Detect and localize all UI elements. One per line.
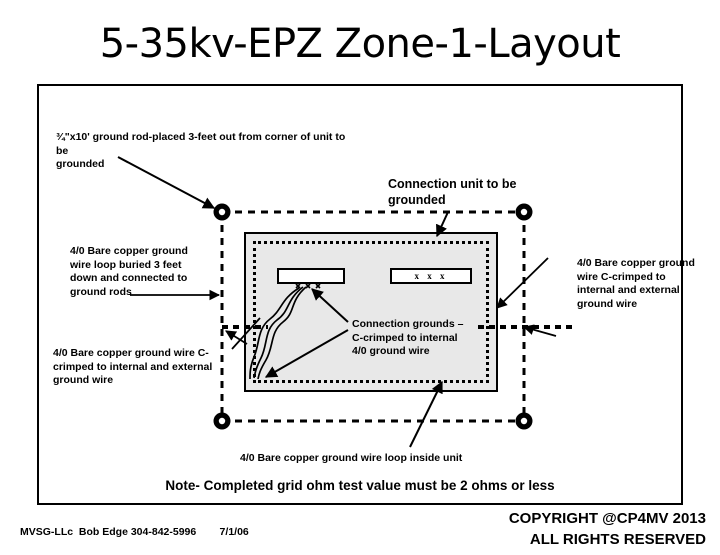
- copyright-line: COPYRIGHT @CP4MV 2013: [509, 508, 706, 529]
- external-ground-loop: [222, 212, 524, 421]
- ground-rod-markers: [214, 204, 533, 430]
- connection-ground-conductors: [250, 287, 306, 379]
- annotation-loop-inside-unit: 4/0 Bare copper ground wire loop inside …: [240, 452, 520, 466]
- slide-canvas: 5-35kv-EPZ Zone-1-Layout x x x: [0, 0, 720, 555]
- leader-connection-unit: [437, 212, 448, 236]
- leader-connection-grounds: [266, 289, 348, 377]
- annotation-loop-buried: 4/0 Bare copper ground wire loop buried …: [70, 245, 220, 299]
- test-value-note: Note- Completed grid ohm test value must…: [0, 478, 720, 493]
- annotation-connection-grounds: Connection grounds – C-crimped to intern…: [352, 318, 492, 359]
- annotation-crimped-left: 4/0 Bare copper ground wire C- crimped t…: [53, 347, 218, 388]
- leader-crimped-left: [226, 318, 260, 349]
- footer-copyright-block: COPYRIGHT @CP4MV 2013 ALL RIGHTS RESERVE…: [509, 508, 706, 550]
- annotation-crimped-right: 4/0 Bare copper ground wire C-crimped to…: [577, 257, 717, 311]
- annotation-ground-rod: ¾"x10' ground rod-placed 3-feet out from…: [56, 131, 356, 172]
- rights-line: ALL RIGHTS RESERVED: [509, 529, 706, 550]
- leader-loop-inside-unit: [410, 382, 442, 447]
- leader-crimped-right: [497, 258, 556, 336]
- panel-left-marks: [296, 284, 320, 288]
- footer-credit: MVSG-LLc Bob Edge 304-842-5996 7/1/06: [20, 526, 249, 538]
- annotation-connection-unit: Connection unit to be grounded: [388, 176, 568, 208]
